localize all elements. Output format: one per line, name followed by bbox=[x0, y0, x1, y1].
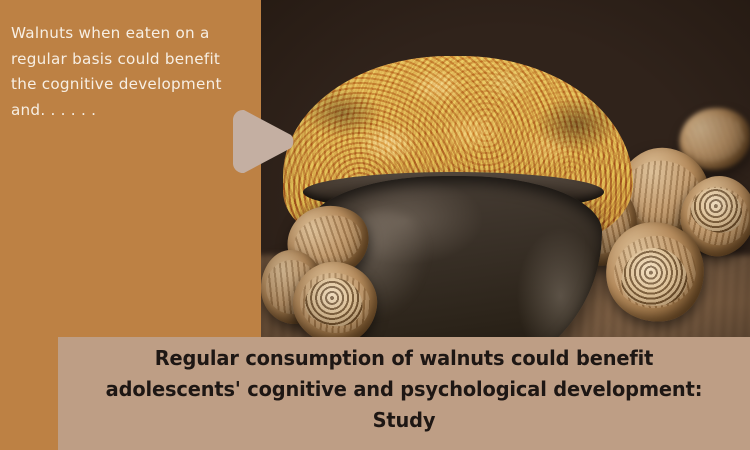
article-headline[interactable]: Regular consumption of walnuts could ben… bbox=[102, 343, 707, 444]
caption-bar: Regular consumption of walnuts could ben… bbox=[58, 337, 750, 450]
teaser-excerpt-text: Walnuts when eaten on a regular basis co… bbox=[11, 21, 247, 123]
article-teaser-card: Walnuts when eaten on a regular basis co… bbox=[0, 0, 750, 450]
play-button[interactable] bbox=[231, 104, 297, 179]
play-triangle-icon bbox=[231, 104, 297, 179]
